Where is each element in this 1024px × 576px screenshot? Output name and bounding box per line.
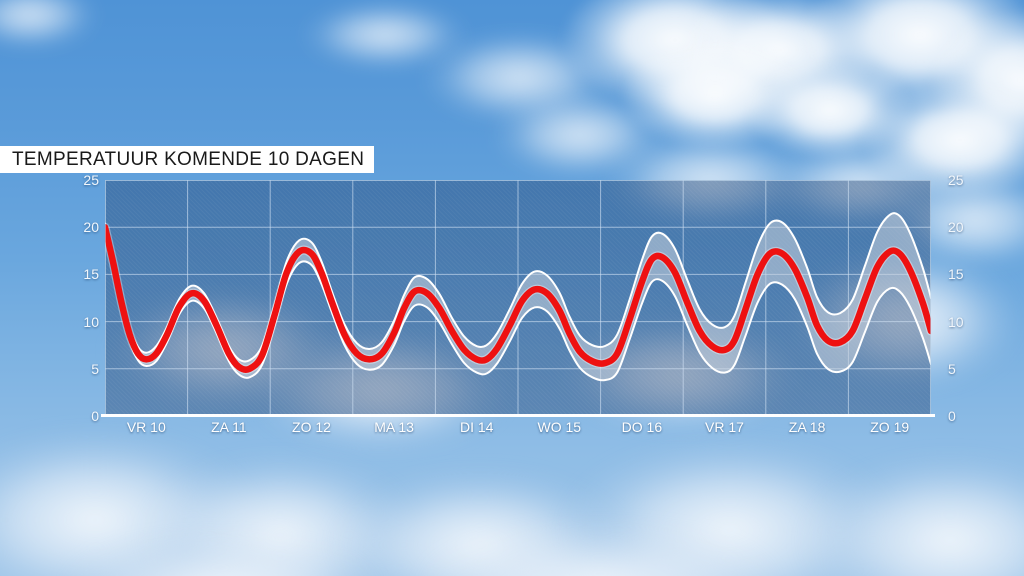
y-tick-label: 20 [948, 220, 994, 234]
chart-title-banner: TEMPERATUUR KOMENDE 10 DAGEN [0, 146, 374, 173]
y-axis-right: 0510152025 [948, 180, 994, 416]
y-tick-label: 25 [948, 173, 994, 187]
y-axis-left: 0510152025 [53, 180, 99, 416]
y-tick-label: 5 [948, 362, 994, 376]
y-tick-label: 10 [53, 315, 99, 329]
temperature-chart [105, 180, 931, 416]
x-tick-label: VR 17 [705, 420, 744, 434]
x-axis-labels: VR 10ZA 11ZO 12MA 13DI 14WO 15DO 16VR 17… [105, 420, 931, 442]
y-tick-label: 20 [53, 220, 99, 234]
y-tick-label: 5 [53, 362, 99, 376]
x-tick-label: ZA 11 [211, 420, 247, 434]
x-tick-label: ZO 19 [870, 420, 909, 434]
x-tick-label: MA 13 [374, 420, 414, 434]
y-tick-label: 10 [948, 315, 994, 329]
y-tick-label: 0 [53, 409, 99, 423]
x-tick-label: VR 10 [127, 420, 166, 434]
x-tick-label: ZO 12 [292, 420, 331, 434]
x-tick-label: WO 15 [538, 420, 582, 434]
x-tick-label: DI 14 [460, 420, 493, 434]
page-title: TEMPERATUUR KOMENDE 10 DAGEN [12, 149, 364, 171]
y-tick-label: 15 [53, 267, 99, 281]
y-tick-label: 0 [948, 409, 994, 423]
weather-forecast-graphic: TEMPERATUUR KOMENDE 10 DAGEN 0510152025 … [0, 0, 1024, 576]
x-tick-label: ZA 18 [789, 420, 826, 434]
chart-plot-area [105, 180, 931, 416]
y-tick-label: 25 [53, 173, 99, 187]
x-tick-label: DO 16 [622, 420, 662, 434]
x-axis-baseline [101, 414, 935, 417]
y-tick-label: 15 [948, 267, 994, 281]
